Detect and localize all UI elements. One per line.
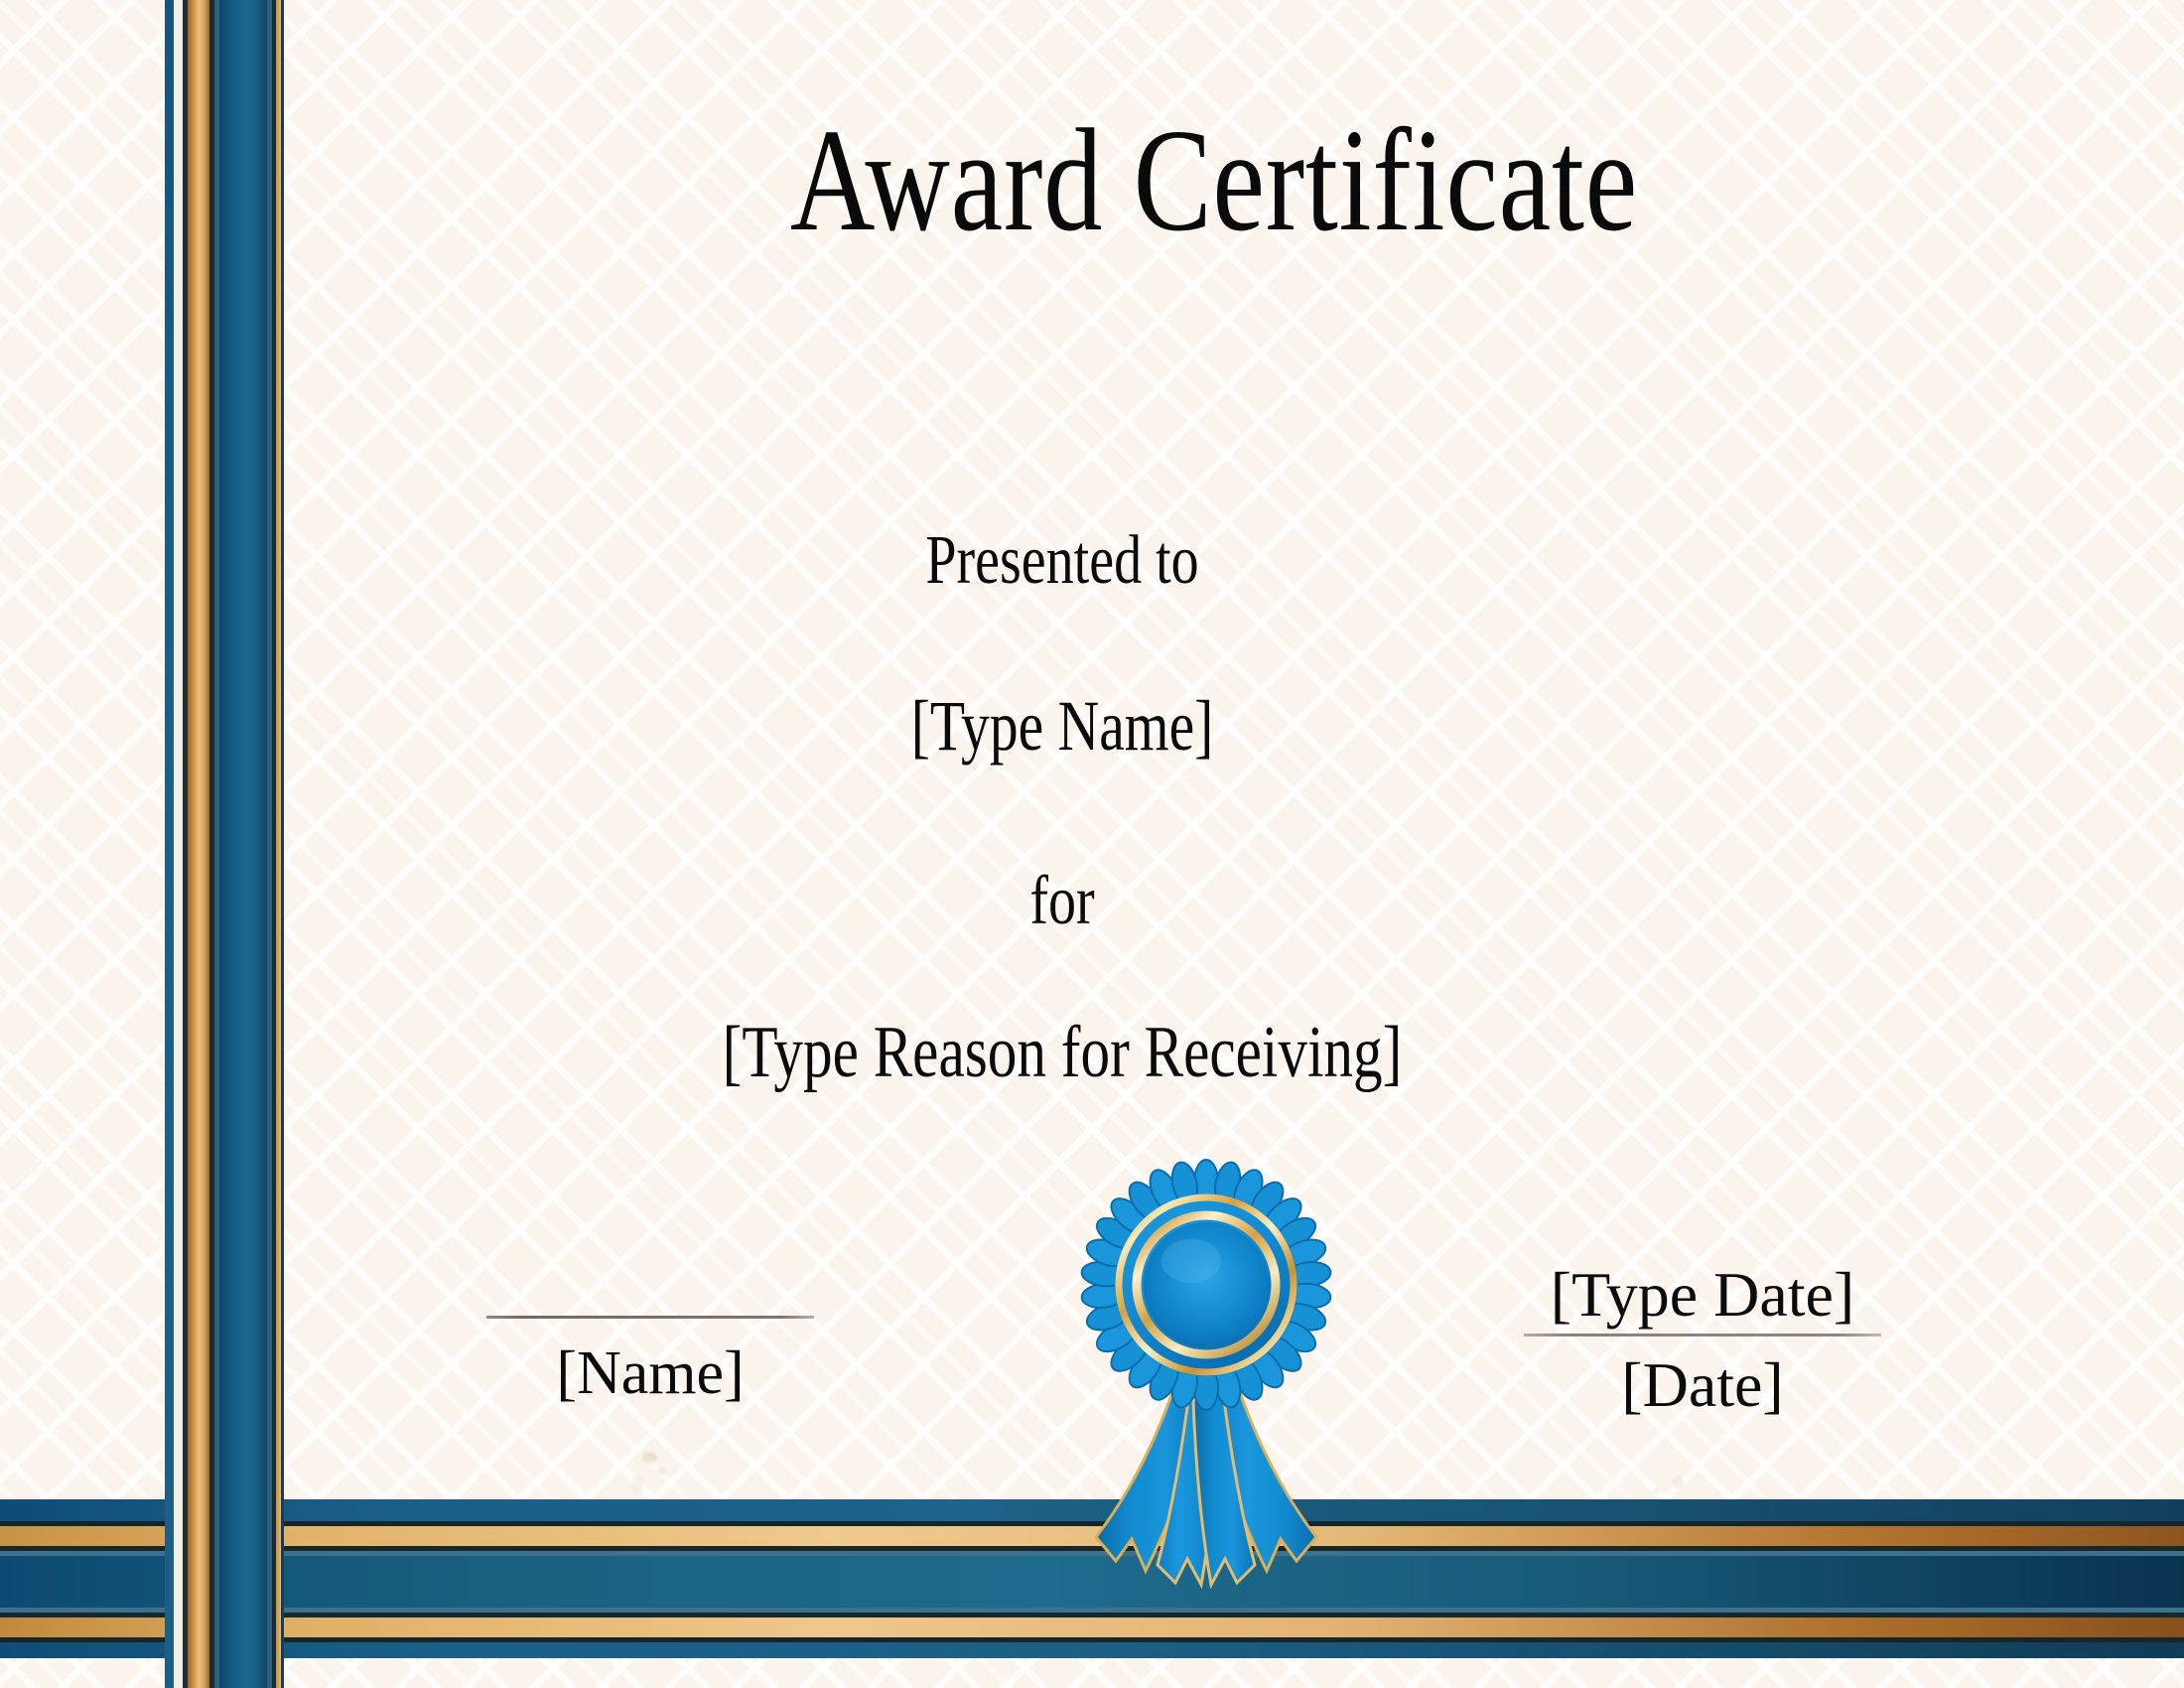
border-stripe-v-gold	[188, 0, 209, 1688]
paper-blotch	[657, 1468, 666, 1475]
border-stripe-v-white	[174, 0, 183, 1688]
ribbon-tails	[1096, 1384, 1316, 1585]
border-stripe-blue-bottom	[0, 1642, 2184, 1658]
border-stripe-v-blue-left	[165, 0, 174, 1688]
certificate-page: Award Certificate Presented to [Type Nam…	[0, 0, 2184, 1688]
date-rule	[1524, 1334, 1881, 1336]
paper-blotch	[641, 1452, 657, 1463]
signature-rule	[486, 1316, 814, 1319]
signature-name-field[interactable]: [Name]	[486, 1338, 814, 1409]
recipient-name-field[interactable]: [Type Name]	[768, 685, 1356, 768]
border-stripe-v-edge	[281, 0, 284, 1688]
paper-blotch	[631, 1476, 643, 1493]
for-label: for	[768, 862, 1356, 941]
award-reason-field[interactable]: [Type Reason for Receiving]	[657, 1011, 1467, 1095]
date-block: [Type Date] [Date]	[1524, 1261, 1881, 1422]
date-caption: [Date]	[1524, 1348, 1881, 1422]
vertical-ribbon-border	[165, 0, 284, 1688]
page-title: Award Certificate	[470, 107, 1958, 254]
paper-blotch	[1652, 1487, 1659, 1494]
date-value-field[interactable]: [Type Date]	[1524, 1261, 1881, 1328]
blue-ribbon-rosette-icon	[1072, 1144, 1340, 1640]
signature-block: [Name]	[486, 1316, 814, 1409]
border-stripe-v-blue-main	[219, 0, 267, 1688]
rosette-medallion	[1115, 1194, 1297, 1376]
presented-to-label: Presented to	[768, 521, 1356, 601]
paper-blotch	[1674, 1476, 1684, 1489]
